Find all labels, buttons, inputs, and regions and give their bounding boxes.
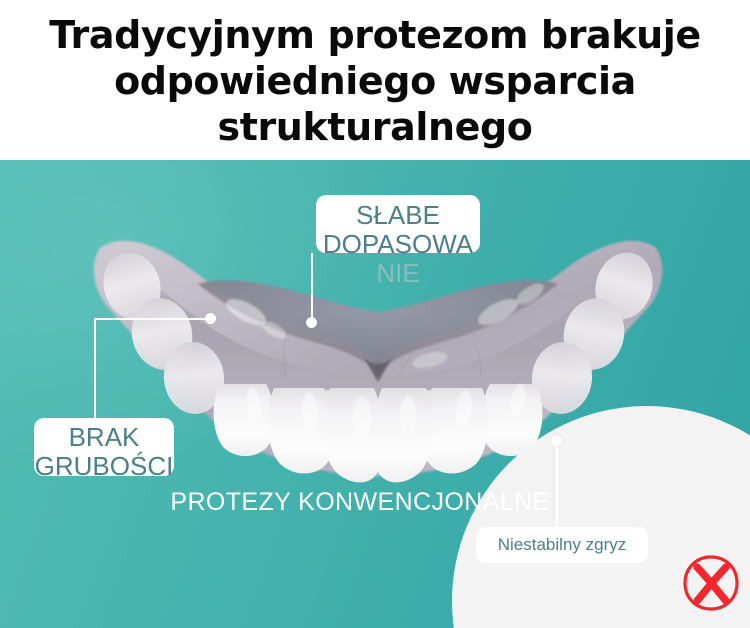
callout-unstable-bite: Niestabilny zgryz: [476, 527, 648, 563]
leader-line-no-thickness-horizontal: [94, 318, 210, 320]
infographic-root: Tradycyjnym protezom brakuje odpowiednie…: [0, 0, 750, 628]
photo-panel: PROTEZY KONWENCJONALNE SŁABE DOPASOWA NI…: [0, 160, 750, 628]
leader-dot-no-thickness: [205, 313, 216, 324]
headline-block: Tradycyjnym protezom brakuje odpowiednie…: [0, 0, 750, 160]
leader-line-unstable-bite: [556, 440, 558, 530]
callout-unstable-bite-text: Niestabilny zgryz: [498, 535, 627, 554]
leader-dot-unstable-bite: [551, 435, 562, 446]
callout-no-thickness: BRAK GRUBOŚCI: [34, 418, 174, 476]
leader-dot-poor-fit: [306, 317, 317, 328]
headline-line-2: odpowiedniego wsparcia: [114, 58, 636, 104]
red-circled-x-icon: [680, 552, 742, 614]
callout-poor-fit-text: SŁABE DOPASOWA: [316, 201, 480, 259]
leader-line-poor-fit: [311, 253, 313, 323]
callout-poor-fit: SŁABE DOPASOWA NIE: [316, 195, 480, 253]
headline-line-1: Tradycyjnym protezom brakuje: [49, 12, 701, 58]
leader-line-no-thickness-vertical: [94, 318, 96, 420]
panel-caption: PROTEZY KONWENCJONALNE: [160, 488, 560, 517]
callout-no-thickness-text: BRAK GRUBOŚCI: [20, 423, 188, 481]
headline-line-3: strukturalnego: [217, 104, 532, 150]
